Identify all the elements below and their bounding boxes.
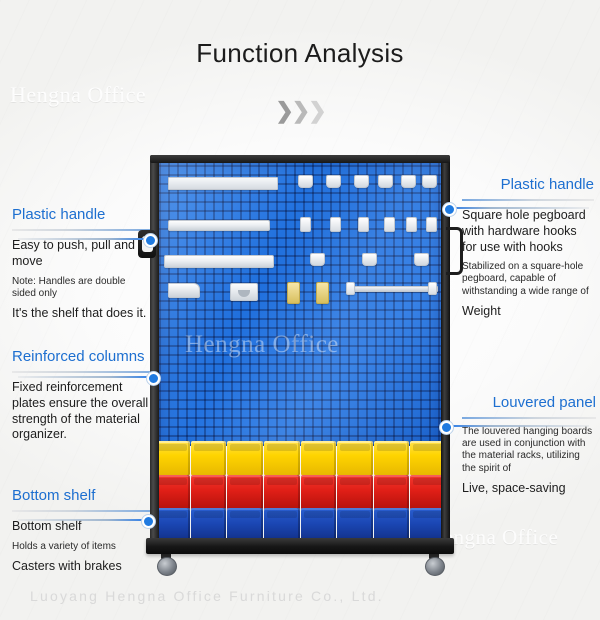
callout-line: Bottom shelf <box>12 519 157 535</box>
callout-anchor-dot <box>144 234 157 247</box>
bin-row-red <box>154 475 446 509</box>
storage-bin <box>264 441 300 475</box>
storage-bin <box>191 441 227 475</box>
callout-line: Live, space-saving <box>462 481 596 497</box>
storage-bin <box>264 475 300 509</box>
pegboard-hook <box>354 175 369 188</box>
pegboard-hook <box>310 253 325 266</box>
pegboard-clip <box>346 282 355 295</box>
callout-pegboard-right: Plastic handle Square hole pegboard with… <box>462 176 594 320</box>
callout-note: Stabilized on a square-hole pegboard, ca… <box>462 261 594 298</box>
callout-divider <box>462 417 596 419</box>
callout-leader-line <box>449 207 589 209</box>
hook-strip <box>168 177 278 190</box>
storage-bin <box>337 475 373 509</box>
callout-plastic-handle-left: Plastic handle Easy to push, pull and mo… <box>12 206 152 322</box>
callout-anchor-dot <box>147 372 160 385</box>
callout-title: Louvered panel <box>462 394 596 411</box>
storage-bin <box>301 508 337 542</box>
callout-line: Casters with brakes <box>12 559 157 575</box>
callout-anchor-dot <box>142 515 155 528</box>
callout-divider <box>462 199 594 201</box>
callout-note: The louvered hanging boards are used in … <box>462 426 596 475</box>
pegboard-clip <box>300 217 311 232</box>
triple-chevron-right-icon: ❯❯❯ <box>0 100 600 122</box>
pegboard-shelf <box>168 220 270 231</box>
pegboard-hook <box>401 175 416 188</box>
page-title: Function Analysis <box>0 38 600 69</box>
callout-title: Plastic handle <box>12 206 152 223</box>
callout-line: It's the shelf that does it. <box>12 306 152 322</box>
plastic-handle-right <box>446 227 463 275</box>
callout-note: Note: Handles are double sided only <box>12 276 152 300</box>
pegboard-clip <box>428 282 437 295</box>
pegboard-tool-clip <box>316 282 329 304</box>
pegboard-tool-clip <box>287 282 300 304</box>
storage-bin <box>264 508 300 542</box>
pegboard-shelf <box>164 255 274 268</box>
caster-wheel <box>424 552 444 574</box>
callout-divider <box>12 371 157 373</box>
callout-line: Square hole pegboard with hardware hooks… <box>462 208 594 255</box>
storage-bin <box>227 508 263 542</box>
pegboard-hook <box>298 175 313 188</box>
frame-post-left <box>150 155 159 540</box>
storage-bin <box>154 475 190 509</box>
square-hole-pegboard <box>159 161 441 446</box>
pegboard-hook <box>414 253 429 266</box>
callout-title: Bottom shelf <box>12 487 157 504</box>
pegboard-bin-holder <box>230 283 258 301</box>
bin-row-yellow <box>154 441 446 475</box>
callout-reinforced-columns: Reinforced columns Fixed reinforcement p… <box>12 348 157 443</box>
callout-divider <box>12 510 157 512</box>
callout-leader-line <box>18 238 148 240</box>
callout-title: Reinforced columns <box>12 348 157 365</box>
storage-bin <box>301 441 337 475</box>
pegboard-hook <box>362 253 377 266</box>
pegboard-hook <box>378 175 393 188</box>
callout-line: Easy to push, pull and move <box>12 238 152 270</box>
callout-leader-line <box>449 425 589 427</box>
callout-anchor-dot <box>443 203 456 216</box>
callout-bottom-shelf: Bottom shelf Bottom shelf Holds a variet… <box>12 487 157 575</box>
callout-line: Weight <box>462 304 594 320</box>
storage-bin <box>337 441 373 475</box>
storage-bin <box>154 508 190 542</box>
storage-bin <box>374 508 410 542</box>
storage-bin <box>301 475 337 509</box>
frame-top-bar <box>150 155 450 163</box>
callout-leader-line <box>18 519 146 521</box>
infographic-canvas: Function Analysis ❯❯❯ Hengna Office Heng… <box>0 0 600 620</box>
pegboard-hook <box>326 175 341 188</box>
pegboard-sheen <box>159 161 441 446</box>
storage-bin <box>374 441 410 475</box>
callout-anchor-dot <box>440 421 453 434</box>
storage-bin <box>374 475 410 509</box>
storage-bin <box>227 475 263 509</box>
pegboard-clip <box>330 217 341 232</box>
pegboard-tray <box>168 283 200 298</box>
pegboard-clip <box>426 217 437 232</box>
callout-title: Plastic handle <box>462 176 594 193</box>
pegboard-clip <box>358 217 369 232</box>
pegboard-clip <box>406 217 417 232</box>
callout-divider <box>12 229 152 231</box>
callout-louvered-panel: Louvered panel The louvered hanging boar… <box>462 394 596 497</box>
bottom-shelf <box>146 538 454 554</box>
caster-wheel <box>156 552 176 574</box>
callout-note: Holds a variety of items <box>12 541 157 553</box>
storage-bin <box>337 508 373 542</box>
storage-bin <box>191 508 227 542</box>
product-rack-image: Hengna Office <box>150 155 450 555</box>
pegboard-clip <box>384 217 395 232</box>
pegboard-hook <box>422 175 437 188</box>
watermark-footer: Luoyang Hengna Office Furniture Co., Ltd… <box>30 588 384 604</box>
bin-row-blue <box>154 508 446 542</box>
callout-leader-line <box>18 376 151 378</box>
storage-bin <box>191 475 227 509</box>
storage-bin <box>227 441 263 475</box>
callout-line: Fixed reinforcement plates ensure the ov… <box>12 380 157 443</box>
storage-bin <box>154 441 190 475</box>
pegboard-rail <box>346 286 438 292</box>
